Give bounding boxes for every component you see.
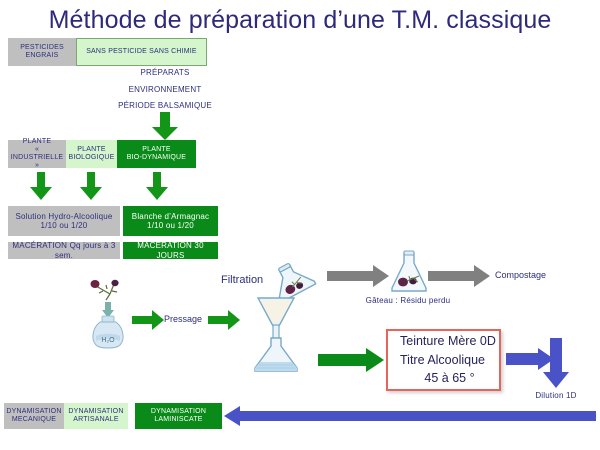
teinture-mere-box: Teinture Mère 0D Titre Alcoolique 45 à 6…: [386, 329, 501, 391]
arrow-right-to-teinture-mere: [318, 348, 384, 372]
dynamisation-laminiscate-line1: DYNAMISATION: [151, 408, 206, 416]
arrow-right-to-gateau: [327, 265, 389, 287]
arrow-right-to-compostage: [428, 265, 490, 287]
condition-periode-balsamique: PÉRIODE BALSAMIQUE: [0, 101, 330, 110]
pesticides-line2: ENGRAIS: [26, 52, 59, 60]
condition-preparats: PRÉPARATS: [0, 68, 330, 77]
pesticides-engrais-box: PESTICIDES ENGRAIS: [8, 38, 76, 66]
maceration-courte-label: MACÉRATION Qq jours à 3 sem.: [8, 241, 120, 260]
plante-industrielle-line1: PLANTE: [23, 138, 51, 146]
arrow-right-to-dilution: [506, 348, 554, 370]
plante-industrielle-line2: « INDUSTRIELLE »: [8, 146, 66, 171]
sans-pesticide-label: SANS PESTICIDE SANS CHIMIE: [86, 48, 197, 56]
solution-hydro-line1: Solution Hydro-Alcoolique: [15, 212, 112, 221]
dynamisation-artisanale-line2: ARTISANALE: [73, 416, 118, 424]
pesticides-line1: PESTICIDES: [20, 44, 64, 52]
compostage-label: Compostage: [495, 270, 546, 280]
dynamisation-artisanale-line1: DYNAMISATION: [68, 408, 123, 416]
arrow-down-biologique: [80, 172, 102, 200]
arrow-down-bio-dynamique: [146, 172, 168, 200]
arrow-right-to-pressage: [132, 310, 164, 330]
maceration-courte-box: MACÉRATION Qq jours à 3 sem.: [8, 242, 120, 259]
plante-biologique-box: PLANTE BIOLOGIQUE: [66, 140, 117, 168]
dynamisation-mecanique-box: DYNAMISATION MECANIQUE: [4, 403, 64, 429]
maceration-30-jours-label: MACÉRATION 30 JOURS: [123, 241, 218, 260]
plante-industrielle-box: PLANTE « INDUSTRIELLE »: [8, 140, 66, 168]
plante-biologique-line2: BIOLOGIQUE: [69, 154, 115, 162]
dilution-1d-label: Dilution 1D: [519, 391, 593, 400]
page-title: Méthode de préparation d’une T.M. classi…: [0, 6, 600, 35]
plante-biologique-line1: PLANTE: [77, 146, 105, 154]
arrow-down-dilution: [543, 338, 569, 388]
maceration-30-jours-box: MACÉRATION 30 JOURS: [123, 242, 218, 259]
arrow-left-to-dynamisation: [224, 406, 596, 426]
dynamisation-mecanique-line1: DYNAMISATION: [6, 408, 61, 416]
pouring-flask-illustration: [265, 262, 317, 298]
pressage-label: Pressage: [164, 314, 202, 324]
blanche-armagnac-line2: 1/10 ou 1/20: [147, 221, 194, 230]
blanche-armagnac-line1: Blanche d’Armagnac: [132, 212, 209, 221]
plante-bio-dynamique-line2: BIO-DYNAMIQUE: [127, 154, 186, 162]
gateau-residu-label: Gâteau : Résidu perdu: [358, 296, 458, 305]
solution-hydro-line2: 1/10 ou 1/20: [41, 221, 88, 230]
sans-pesticide-sans-chimie-box: SANS PESTICIDE SANS CHIMIE: [76, 38, 207, 66]
residue-flask-illustration: [388, 250, 430, 294]
blanche-armagnac-box: Blanche d’Armagnac 1/10 ou 1/20: [123, 206, 218, 236]
dynamisation-laminiscate-box: DYNAMISATION LAMINISCATE: [135, 403, 222, 429]
teinture-mere-line2: Titre Alcoolique: [400, 351, 485, 370]
svg-text:H₂O: H₂O: [101, 337, 115, 344]
plante-bio-dynamique-box: PLANTE BIO-DYNAMIQUE: [117, 140, 196, 168]
arrow-right-to-filtration: [208, 310, 240, 330]
arrow-down-to-bio-dynamique: [152, 112, 178, 140]
filtration-funnel-illustration: [247, 292, 305, 374]
condition-environnement: ENVIRONNEMENT: [0, 85, 330, 94]
teinture-mere-line3: 45 à 65 °: [424, 369, 474, 388]
teinture-mere-line1: Teinture Mère 0D: [400, 332, 496, 351]
dynamisation-laminiscate-line2: LAMINISCATE: [154, 416, 202, 424]
dynamisation-mecanique-line2: MECANIQUE: [12, 416, 56, 424]
dynamisation-artisanale-box: DYNAMISATION ARTISANALE: [64, 403, 128, 429]
slide-canvas: Méthode de préparation d’une T.M. classi…: [0, 0, 600, 450]
plant-in-water-jar-illustration: H₂O: [86, 272, 130, 350]
arrow-down-industrielle: [30, 172, 52, 200]
solution-hydro-alcoolique-box: Solution Hydro-Alcoolique 1/10 ou 1/20: [8, 206, 120, 236]
plante-bio-dynamique-line1: PLANTE: [142, 146, 170, 154]
filtration-label: Filtration: [221, 274, 263, 286]
